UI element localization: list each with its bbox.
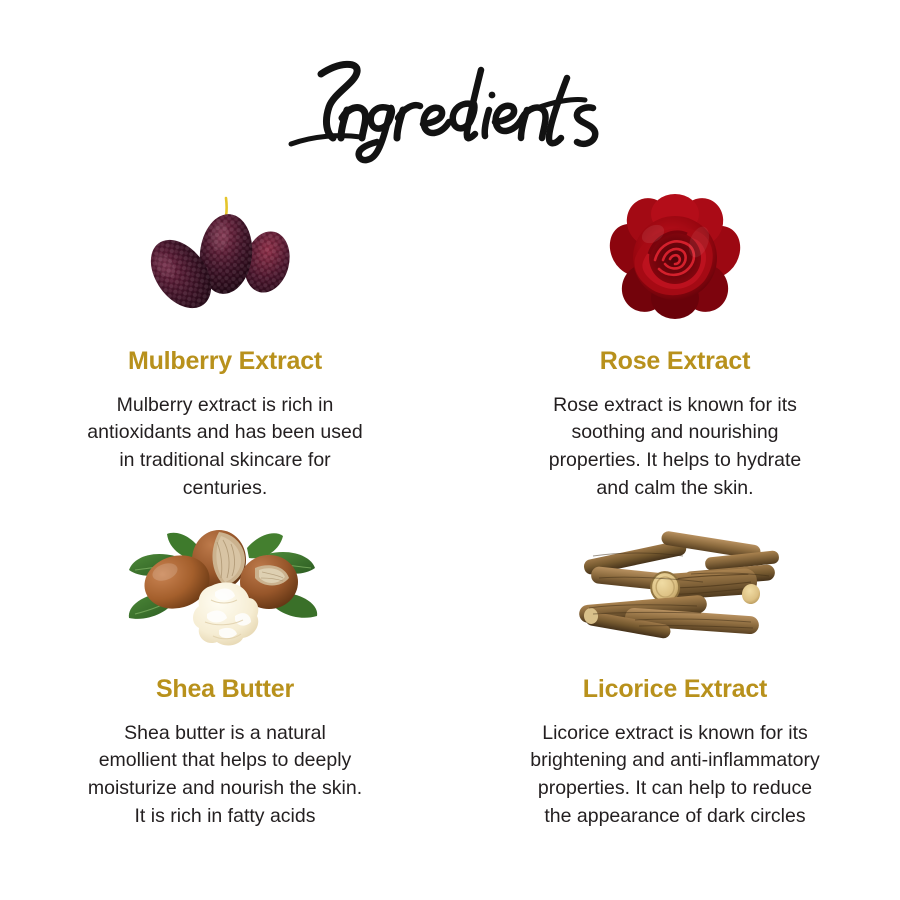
ingredient-card-licorice: Licorice Extract Licorice extract is kno… bbox=[450, 502, 900, 830]
page-title-script-text: Ingredients bbox=[285, 52, 615, 164]
rose-flower-image bbox=[565, 192, 785, 324]
ingredient-title-rose: Rose Extract bbox=[600, 348, 750, 376]
ingredient-description-shea: Shea butter is a natural emollient that … bbox=[86, 720, 364, 831]
ingredient-description-mulberry: Mulberry extract is rich in antioxidants… bbox=[86, 392, 364, 503]
ingredient-card-shea: Shea Butter Shea butter is a natural emo… bbox=[0, 502, 450, 830]
ingredients-page: Ingredients bbox=[0, 0, 900, 900]
ingredient-card-rose: Rose Extract Rose extract is known for i… bbox=[450, 188, 900, 502]
ingredients-grid: Mulberry Extract Mulberry extract is ric… bbox=[0, 188, 900, 831]
ingredient-title-shea: Shea Butter bbox=[156, 676, 294, 704]
licorice-root-sticks-image bbox=[565, 520, 785, 652]
ingredient-title-licorice: Licorice Extract bbox=[583, 676, 767, 704]
ingredient-title-mulberry: Mulberry Extract bbox=[128, 348, 322, 376]
ingredient-description-licorice: Licorice extract is known for its bright… bbox=[530, 720, 820, 831]
mulberry-fruit-image bbox=[115, 192, 335, 324]
ingredient-description-rose: Rose extract is known for its soothing a… bbox=[530, 392, 820, 503]
shea-butter-nuts-image bbox=[115, 520, 335, 652]
ingredient-card-mulberry: Mulberry Extract Mulberry extract is ric… bbox=[0, 188, 450, 502]
page-title: Ingredients bbox=[0, 52, 900, 169]
